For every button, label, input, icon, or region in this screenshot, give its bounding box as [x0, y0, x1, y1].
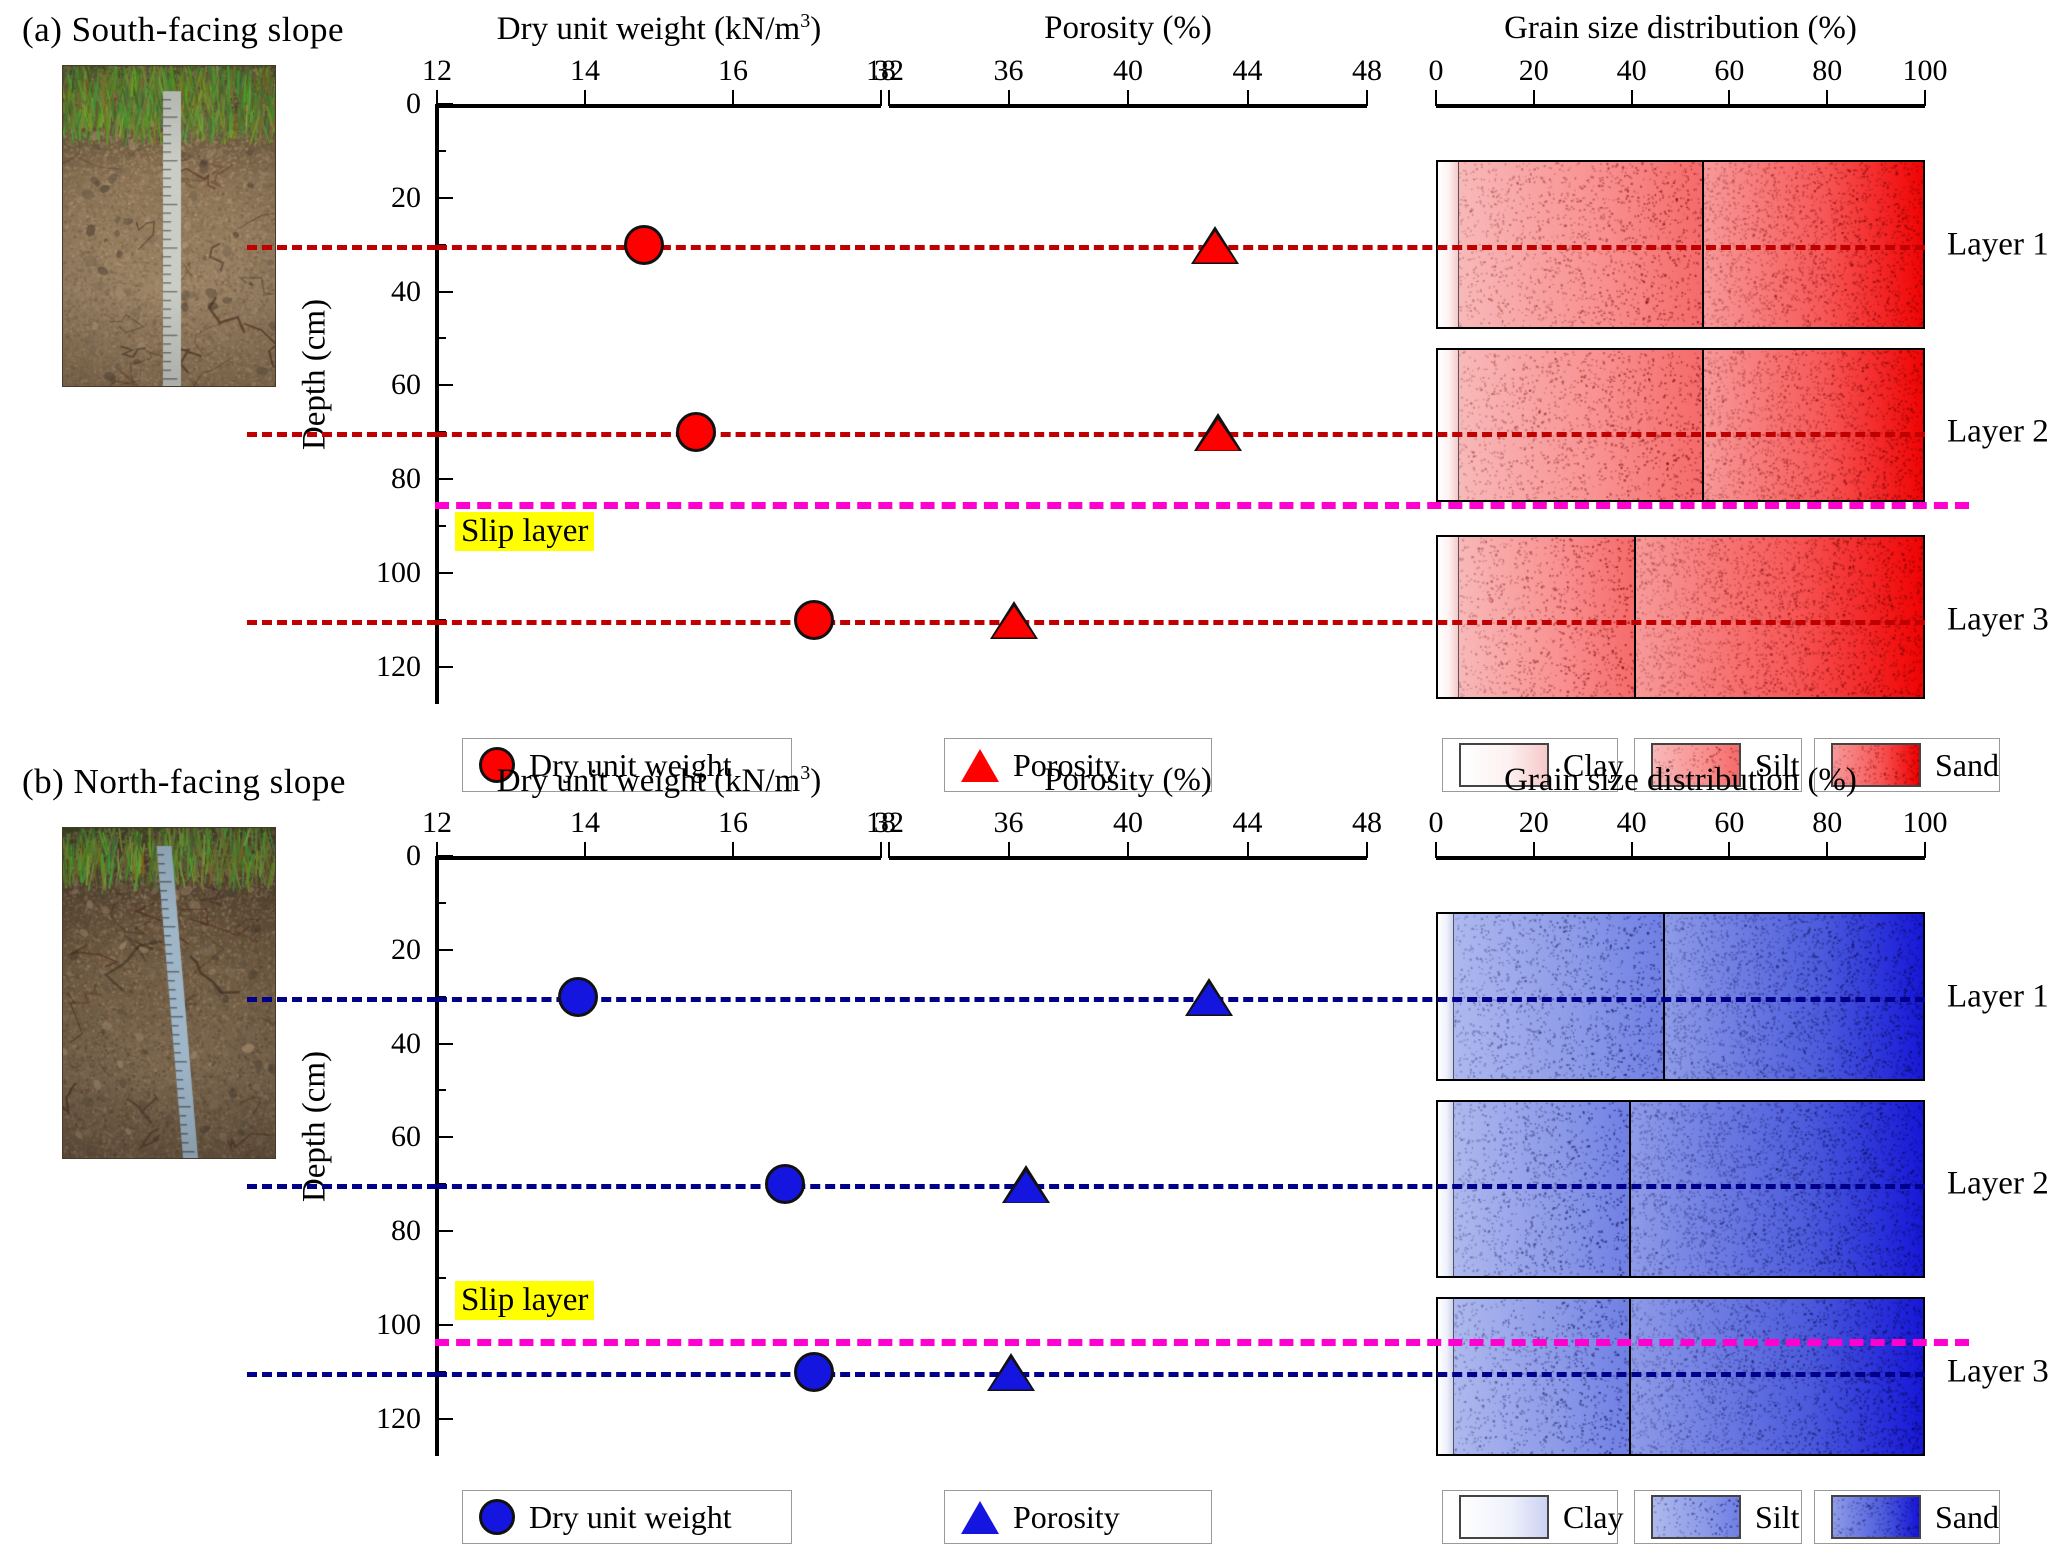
axis-title-text: Dry unit weight (kN/m [497, 763, 800, 799]
dry-unit-weight-marker [794, 600, 834, 640]
axis-depth [435, 856, 439, 1456]
grain-segment-divider [1634, 537, 1636, 697]
axis-minor-tick [437, 1089, 446, 1091]
grain-segment-sand [1702, 350, 1925, 501]
axis-tick-label: 32 [874, 54, 904, 88]
axis-tick-label: 36 [994, 806, 1024, 840]
porosity-marker [1188, 984, 1230, 1015]
axis-tick-label: 12 [422, 54, 452, 88]
axis-title-exponent: 3 [800, 762, 810, 784]
axis-title-grain-size: Grain size distribution (%) [1436, 762, 1925, 799]
axis-tick [1435, 90, 1437, 106]
grain-texture-overlay [1833, 1497, 1919, 1537]
legend-item-sand: Sand [1814, 1490, 2000, 1544]
grain-segment-divider [1458, 537, 1459, 697]
axis-tick-label: 40 [1617, 806, 1647, 840]
axis-title-grain-size: Grain size distribution (%) [1436, 10, 1925, 47]
axis-tick [437, 291, 453, 293]
axis-minor-tick [437, 1277, 446, 1279]
legend-label: Porosity [1013, 1499, 1120, 1536]
soil-profile-image [63, 828, 275, 1158]
grain-segment-clay [1438, 537, 1458, 697]
axis-tick-label: 60 [1714, 806, 1744, 840]
grain-segment-divider [1702, 350, 1704, 501]
axis-tick [1924, 842, 1926, 858]
axis-tick [732, 90, 734, 106]
grain-texture-overlay [1653, 1497, 1739, 1537]
axis-tick [1127, 842, 1129, 858]
axis-tick-label: 60 [1714, 54, 1744, 88]
axis-tick [437, 1230, 453, 1232]
porosity-marker [993, 607, 1035, 638]
slip-layer-label: Slip layer [455, 1281, 594, 1320]
legend-label: Clay [1563, 1499, 1623, 1536]
panel-south-facing-slope: (a) South-facing slopeDry unit weight (k… [0, 0, 2067, 745]
axis-depth-label: 120 [341, 1402, 421, 1436]
axis-tick-label: 20 [1519, 806, 1549, 840]
legend-item-dry-unit-weight: Dry unit weight [462, 1490, 792, 1544]
axis-title-porosity: Porosity (%) [889, 10, 1367, 47]
dry-unit-weight-marker [765, 1164, 805, 1204]
axis-title-dry-unit-weight: Dry unit weight (kN/m3) [437, 10, 881, 48]
layer-label: Layer 3 [1947, 601, 2049, 638]
axis-tick [888, 842, 890, 858]
axis-top-dry-unit-weight [437, 104, 881, 108]
axis-tick-label: 16 [718, 806, 748, 840]
soil-profile-image [63, 66, 275, 386]
axis-tick [437, 949, 453, 951]
axis-tick-label: 0 [1429, 54, 1444, 88]
layer-guide-line [437, 1184, 1925, 1189]
photo-connector [247, 432, 437, 437]
north-facing-slope-soil-profile-photo [62, 827, 276, 1159]
grain-segment-clay [1438, 350, 1458, 501]
silt-swatch-icon [1651, 1495, 1741, 1539]
axis-minor-tick [437, 525, 446, 527]
photo-connector [247, 620, 437, 625]
axis-title-exponent: 3 [800, 10, 810, 32]
axis-tick-label: 40 [1617, 54, 1647, 88]
axis-tick [1008, 842, 1010, 858]
axis-tick [437, 384, 453, 386]
axis-tick [1366, 90, 1368, 106]
axis-tick [437, 1136, 453, 1138]
axis-tick [1435, 842, 1437, 858]
porosity-marker [1005, 1171, 1047, 1202]
layer-guide-line [437, 997, 1925, 1002]
axis-title-tail: ) [810, 11, 821, 47]
axis-tick [437, 1324, 453, 1326]
grain-texture-overlay [1458, 537, 1634, 697]
axis-minor-tick [437, 337, 446, 339]
axis-tick-label: 44 [1233, 806, 1263, 840]
layer-guide-line [437, 620, 1925, 625]
axis-depth-title: Depth (cm) [297, 265, 334, 485]
axis-tick [880, 842, 882, 858]
photo-connector [247, 997, 437, 1002]
axis-tick-label: 48 [1352, 54, 1382, 88]
grain-segment-silt [1458, 350, 1703, 501]
axis-tick-label: 32 [874, 806, 904, 840]
axis-depth-label: 60 [341, 1120, 421, 1154]
axis-tick [437, 572, 453, 574]
plot-area: Dry unit weight (kN/m3)Porosity (%)Grain… [437, 804, 1925, 1404]
porosity-marker [1197, 419, 1239, 450]
photo-connector [247, 245, 437, 250]
axis-tick [880, 90, 882, 106]
axis-tick-label: 100 [1903, 54, 1948, 88]
axis-depth-label: 40 [341, 275, 421, 309]
axis-depth [435, 104, 439, 704]
clay-swatch-icon [1459, 1495, 1549, 1539]
axis-tick [732, 842, 734, 858]
axis-tick [437, 855, 453, 857]
legend-label: Sand [1935, 1499, 1999, 1536]
axis-tick-label: 44 [1233, 54, 1263, 88]
axis-tick [1924, 90, 1926, 106]
legend-item-silt: Silt [1634, 1490, 1802, 1544]
axis-tick [437, 1043, 453, 1045]
layer-label: Layer 2 [1947, 1166, 2049, 1203]
slip-layer-line [435, 1339, 1969, 1346]
axis-top-grain-size [1436, 856, 1925, 860]
slip-layer-line [435, 502, 1969, 509]
axis-tick-label: 80 [1812, 54, 1842, 88]
axis-tick-label: 14 [570, 54, 600, 88]
axis-depth-label: 0 [341, 87, 421, 121]
axis-depth-label: 80 [341, 1214, 421, 1248]
axis-depth-title: Depth (cm) [297, 1017, 334, 1237]
axis-tick [1728, 842, 1730, 858]
axis-tick [1728, 90, 1730, 106]
dry-unit-weight-marker [624, 225, 664, 265]
dry-unit-weight-marker [558, 977, 598, 1017]
axis-depth-label: 100 [341, 556, 421, 590]
axis-depth-label: 80 [341, 462, 421, 496]
axis-title-dry-unit-weight: Dry unit weight (kN/m3) [437, 762, 881, 800]
axis-tick [437, 103, 453, 105]
axis-tick-label: 40 [1113, 54, 1143, 88]
axis-tick-label: 12 [422, 806, 452, 840]
axis-tick-label: 100 [1903, 806, 1948, 840]
grain-segment-divider [1458, 350, 1459, 501]
panel-north-facing-slope: (b) North-facing slopeDry unit weight (k… [0, 752, 2067, 1497]
axis-tick [584, 842, 586, 858]
photo-connector [247, 1184, 437, 1189]
axis-depth-label: 20 [341, 933, 421, 967]
layer-label: Layer 3 [1947, 1353, 2049, 1390]
axis-top-dry-unit-weight [437, 856, 881, 860]
layer-label: Layer 1 [1947, 978, 2049, 1015]
axis-tick [437, 197, 453, 199]
legend-item-clay: Clay [1442, 1490, 1618, 1544]
axis-tick-label: 40 [1113, 806, 1143, 840]
axis-tick [437, 666, 453, 668]
panel-title: (b) North-facing slope [22, 762, 346, 802]
panel-title: (a) South-facing slope [22, 10, 344, 50]
circle-marker-icon [479, 1499, 515, 1535]
triangle-marker-icon [961, 1501, 999, 1534]
axis-depth-label: 100 [341, 1308, 421, 1342]
grain-segment-sand [1634, 537, 1925, 697]
axis-tick-label: 48 [1352, 806, 1382, 840]
layer-label: Layer 1 [1947, 226, 2049, 263]
axis-tick [584, 90, 586, 106]
axis-tick-label: 36 [994, 54, 1024, 88]
axis-tick-label: 14 [570, 806, 600, 840]
axis-tick-label: 20 [1519, 54, 1549, 88]
axis-tick [888, 90, 890, 106]
porosity-marker [990, 1359, 1032, 1390]
axis-top-grain-size [1436, 104, 1925, 108]
layer-guide-line [437, 1372, 1925, 1377]
grain-size-bar [1436, 535, 1925, 699]
axis-title-tail: ) [810, 763, 821, 799]
axis-tick [437, 478, 453, 480]
grain-size-bar [1436, 348, 1925, 503]
axis-tick-label: 0 [1429, 806, 1444, 840]
slip-layer-label: Slip layer [455, 512, 594, 551]
axis-tick [1826, 842, 1828, 858]
axis-tick [1631, 90, 1633, 106]
layer-label: Layer 2 [1947, 414, 2049, 451]
axis-tick [1366, 842, 1368, 858]
axis-depth-label: 120 [341, 650, 421, 684]
photo-connector [247, 1372, 437, 1377]
grain-texture-overlay [1702, 350, 1925, 501]
legend-label: Dry unit weight [529, 1499, 732, 1536]
axis-title-text: Dry unit weight (kN/m [497, 11, 800, 47]
axis-tick [1127, 90, 1129, 106]
axis-depth-label: 40 [341, 1027, 421, 1061]
axis-tick [1631, 842, 1633, 858]
grain-texture-overlay [1458, 350, 1703, 501]
legend-item-porosity: Porosity [944, 1490, 1212, 1544]
axis-depth-label: 0 [341, 839, 421, 873]
south-facing-slope-soil-profile-photo [62, 65, 276, 387]
grain-texture-overlay [1634, 537, 1925, 697]
layer-guide-line [437, 432, 1925, 437]
axis-depth-label: 60 [341, 368, 421, 402]
axis-tick [1247, 842, 1249, 858]
sand-swatch-icon [1831, 1495, 1921, 1539]
axis-tick [437, 1418, 453, 1420]
legend-label: Silt [1755, 1499, 1799, 1536]
axis-tick-label: 80 [1812, 806, 1842, 840]
porosity-marker [1194, 232, 1236, 263]
axis-tick [1247, 90, 1249, 106]
dry-unit-weight-marker [794, 1352, 834, 1392]
grain-segment-silt [1458, 537, 1634, 697]
axis-depth-label: 20 [341, 181, 421, 215]
axis-tick [1533, 842, 1535, 858]
axis-title-porosity: Porosity (%) [889, 762, 1367, 799]
axis-minor-tick [437, 150, 446, 152]
axis-tick-label: 16 [718, 54, 748, 88]
axis-minor-tick [437, 902, 446, 904]
dry-unit-weight-marker [676, 412, 716, 452]
axis-tick [1826, 90, 1828, 106]
plot-area: Dry unit weight (kN/m3)Porosity (%)Grain… [437, 52, 1925, 652]
axis-tick [1533, 90, 1535, 106]
axis-tick [1008, 90, 1010, 106]
